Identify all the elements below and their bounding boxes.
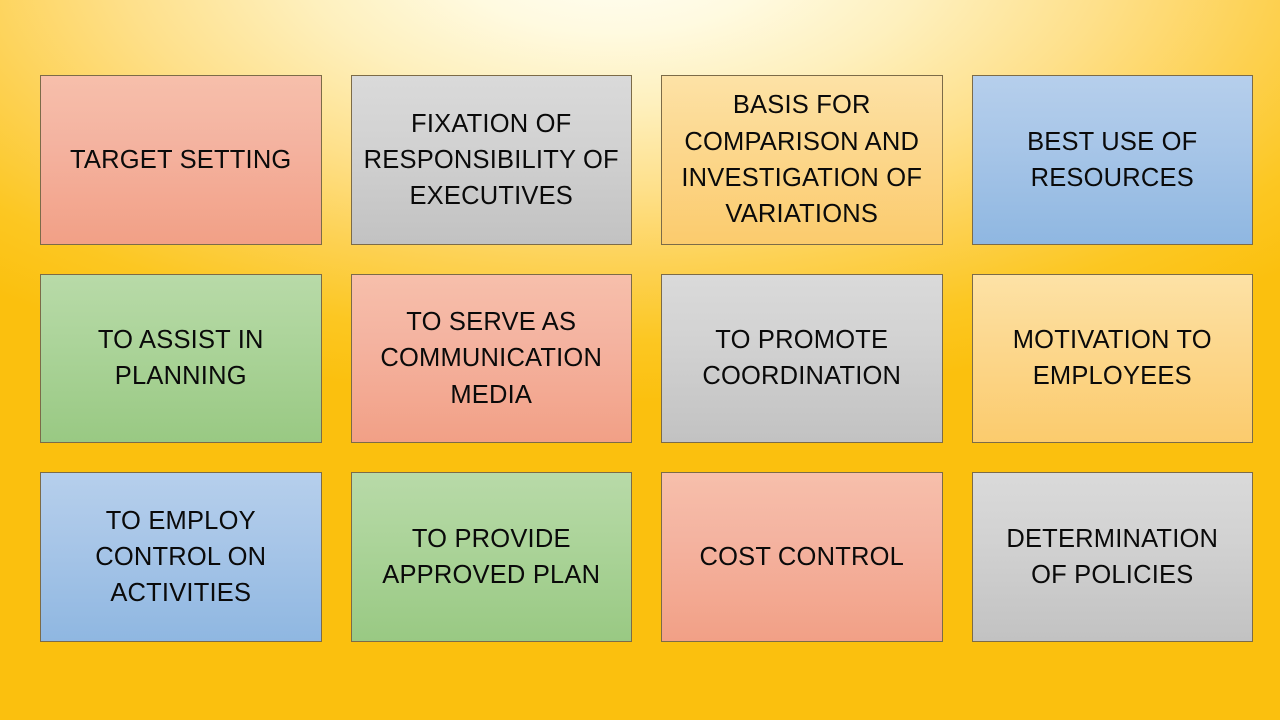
objective-box-label: BASIS FOR COMPARISON AND INVESTIGATION O… [672,87,932,232]
objective-box-label: DETERMINATION OF POLICIES [983,521,1243,593]
objective-box-label: FIXATION OF RESPONSIBILITY OF EXECUTIVES [362,106,622,215]
objective-box-motivation-to-employees[interactable]: MOTIVATION TO EMPLOYEES [972,274,1254,444]
objective-box-assist-in-planning[interactable]: TO ASSIST IN PLANNING [40,274,322,444]
objective-box-label: TO PROVIDE APPROVED PLAN [362,521,622,593]
objective-box-target-setting[interactable]: TARGET SETTING [40,75,322,245]
objective-box-label: TO PROMOTE COORDINATION [672,322,932,394]
slide-canvas: TARGET SETTING FIXATION OF RESPONSIBILIT… [0,0,1280,720]
objective-box-communication-media[interactable]: TO SERVE AS COMMUNICATION MEDIA [351,274,633,444]
objective-box-basis-for-comparison[interactable]: BASIS FOR COMPARISON AND INVESTIGATION O… [661,75,943,245]
objective-box-fixation-of-responsibility[interactable]: FIXATION OF RESPONSIBILITY OF EXECUTIVES [351,75,633,245]
objective-box-cost-control[interactable]: COST CONTROL [661,472,943,642]
objective-box-provide-approved-plan[interactable]: TO PROVIDE APPROVED PLAN [351,472,633,642]
objective-box-promote-coordination[interactable]: TO PROMOTE COORDINATION [661,274,943,444]
objective-box-label: TO EMPLOY CONTROL ON ACTIVITIES [51,503,311,612]
objectives-grid: TARGET SETTING FIXATION OF RESPONSIBILIT… [40,75,1253,642]
objective-box-label: TARGET SETTING [51,142,311,178]
objective-box-label: MOTIVATION TO EMPLOYEES [983,322,1243,394]
objective-box-control-on-activities[interactable]: TO EMPLOY CONTROL ON ACTIVITIES [40,472,322,642]
objective-box-determination-of-policies[interactable]: DETERMINATION OF POLICIES [972,472,1254,642]
objective-box-label: TO SERVE AS COMMUNICATION MEDIA [362,304,622,413]
objective-box-label: BEST USE OF RESOURCES [983,124,1243,196]
objective-box-label: COST CONTROL [672,539,932,575]
objective-box-best-use-of-resources[interactable]: BEST USE OF RESOURCES [972,75,1254,245]
objective-box-label: TO ASSIST IN PLANNING [51,322,311,394]
